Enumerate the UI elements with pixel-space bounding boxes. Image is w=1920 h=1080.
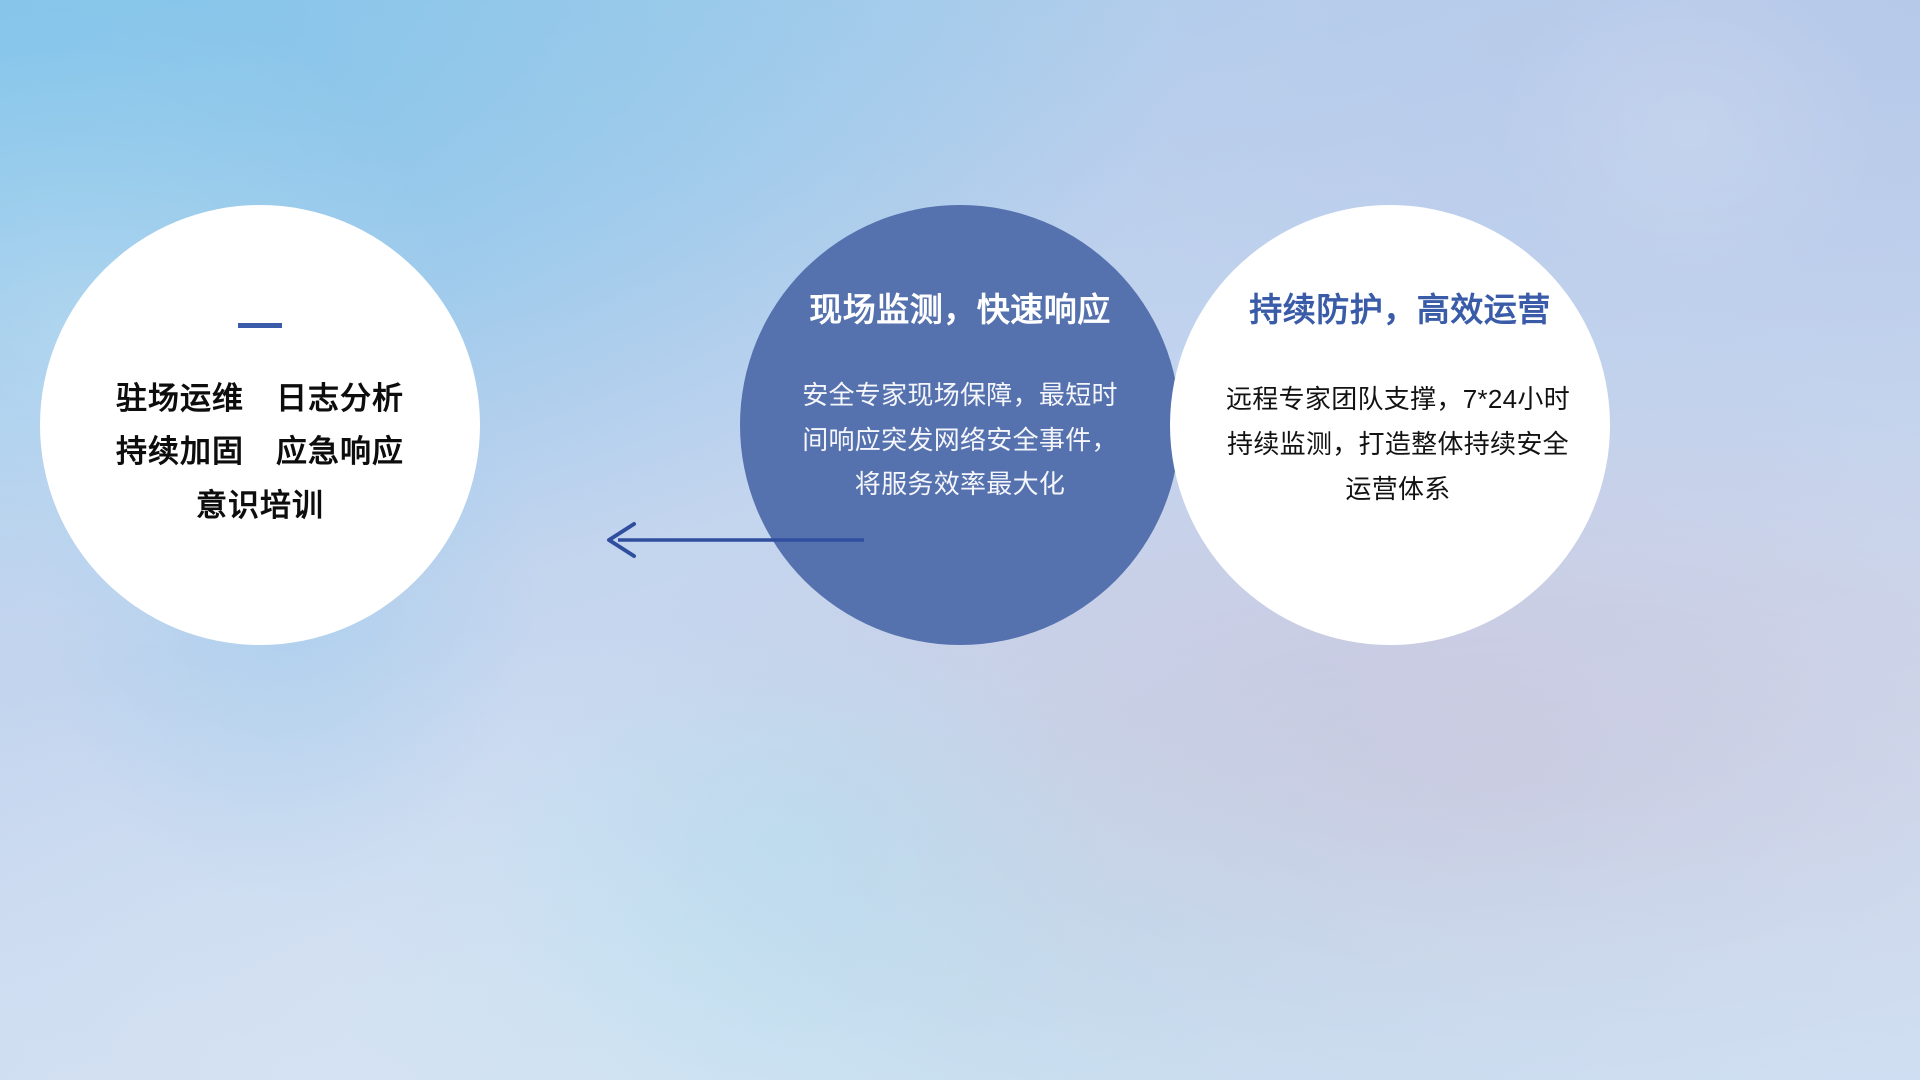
capability-list: 驻场运维 日志分析 持续加固 应急响应 意识培训 [116, 372, 404, 532]
circle-title: 持续防护，高效运营 [1249, 283, 1551, 331]
arrow-icon [600, 515, 870, 565]
circle-onsite-monitoring[interactable]: 现场监测，快速响应 安全专家现场保障，最短时间响应突发网络安全事件，将服务效率最… [740, 205, 1180, 645]
circle-onsite-capabilities[interactable]: 驻场运维 日志分析 持续加固 应急响应 意识培训 [40, 205, 480, 645]
circle-body-text: 安全专家现场保障，最短时间响应突发网络安全事件，将服务效率最大化 [795, 373, 1125, 507]
circle-continuous-operations[interactable]: 持续防护，高效运营 远程专家团队支撑，7*24小时持续监测，打造整体持续安全运营… [1170, 205, 1610, 645]
capability-line: 持续加固 应急响应 [116, 425, 404, 478]
divider-dash [238, 323, 282, 328]
circle-title: 现场监测，快速响应 [809, 283, 1111, 331]
connector-arrow-left [600, 515, 870, 565]
capability-line: 意识培训 [116, 479, 404, 532]
circle-body-text: 远程专家团队支撑，7*24小时持续监测，打造整体持续安全运营体系 [1218, 377, 1578, 513]
capability-line: 驻场运维 日志分析 [116, 372, 404, 425]
